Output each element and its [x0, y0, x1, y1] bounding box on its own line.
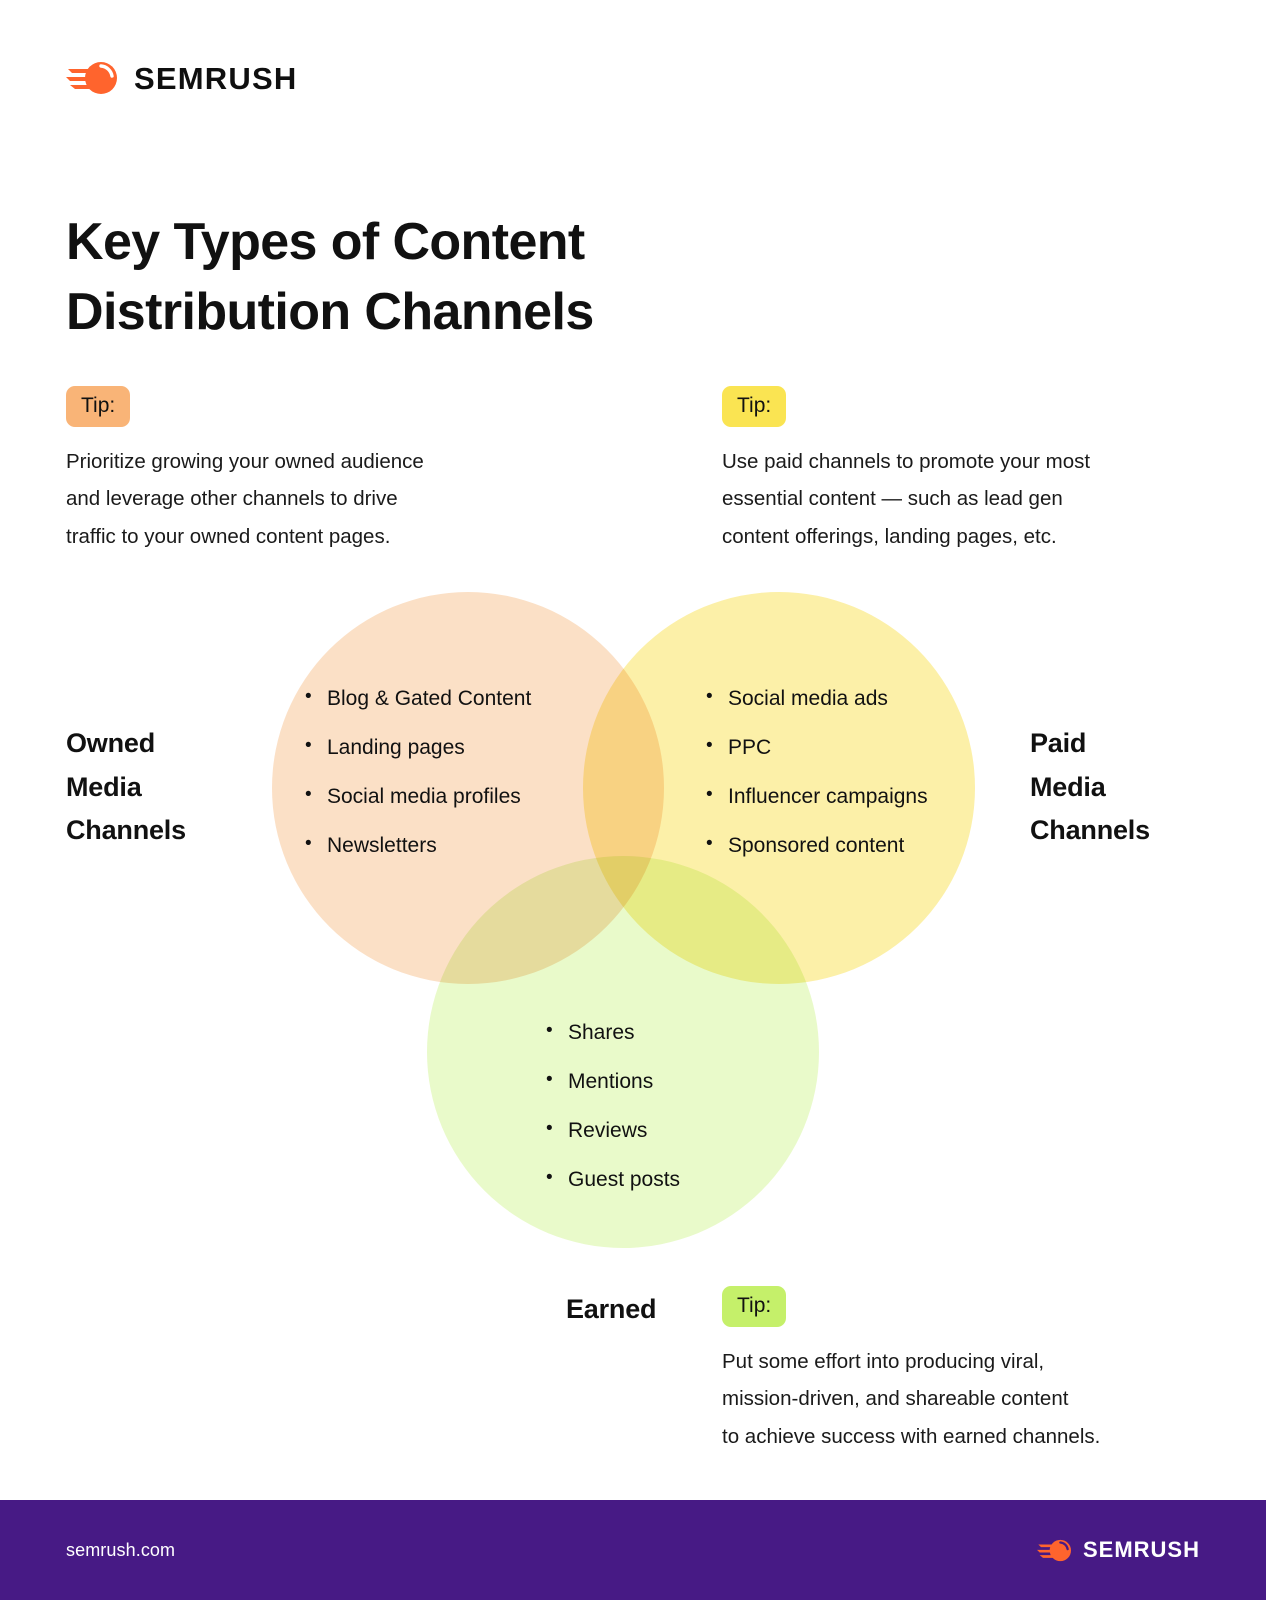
tip-block-earned: Tip: Put some effort into producing vira…	[722, 1286, 1192, 1475]
list-item: Guest posts	[546, 1169, 680, 1190]
list-item: Sponsored content	[706, 835, 928, 856]
page-title: Key Types of Content Distribution Channe…	[66, 207, 826, 347]
list-item: Influencer campaigns	[706, 786, 928, 807]
list-item: Mentions	[546, 1071, 680, 1092]
tip-text-owned: Prioritize growing your owned audience a…	[66, 443, 536, 555]
venn-list-paid: Social media ads PPC Influencer campaign…	[706, 688, 928, 856]
venn-list-earned: Shares Mentions Reviews Guest posts	[546, 1022, 680, 1190]
list-item: Blog & Gated Content	[305, 688, 531, 709]
list-item: Shares	[546, 1022, 680, 1043]
semrush-wordmark-footer: SEMRUSH	[1083, 1539, 1200, 1561]
tip-badge-paid: Tip:	[722, 386, 786, 427]
list-item: Social media profiles	[305, 786, 531, 807]
list-item: Reviews	[546, 1120, 680, 1141]
list-item: PPC	[706, 737, 928, 758]
tip-badge-owned: Tip:	[66, 386, 130, 427]
tip-block-owned: Tip: Prioritize growing your owned audie…	[66, 386, 536, 575]
tip-text-paid: Use paid channels to promote your most e…	[722, 443, 1192, 555]
tip-block-paid: Tip: Use paid channels to promote your m…	[722, 386, 1192, 575]
semrush-logo-header: SEMRUSH	[66, 58, 297, 98]
venn-label-earned: Earned	[566, 1288, 656, 1332]
venn-label-paid: Paid Media Channels	[1030, 722, 1150, 853]
venn-label-owned: Owned Media Channels	[66, 722, 186, 853]
venn-list-owned: Blog & Gated Content Landing pages Socia…	[305, 688, 531, 856]
list-item: Landing pages	[305, 737, 531, 758]
footer-url[interactable]: semrush.com	[66, 1540, 175, 1561]
semrush-wordmark: SEMRUSH	[134, 63, 297, 94]
semrush-comet-icon	[1037, 1537, 1073, 1564]
semrush-logo-footer: SEMRUSH	[1037, 1537, 1200, 1564]
list-item: Social media ads	[706, 688, 928, 709]
tip-badge-earned: Tip:	[722, 1286, 786, 1327]
semrush-comet-icon	[66, 58, 120, 98]
list-item: Newsletters	[305, 835, 531, 856]
tip-text-earned: Put some effort into producing viral, mi…	[722, 1343, 1192, 1455]
footer-bar: semrush.com SEMRUSH	[0, 1500, 1266, 1600]
